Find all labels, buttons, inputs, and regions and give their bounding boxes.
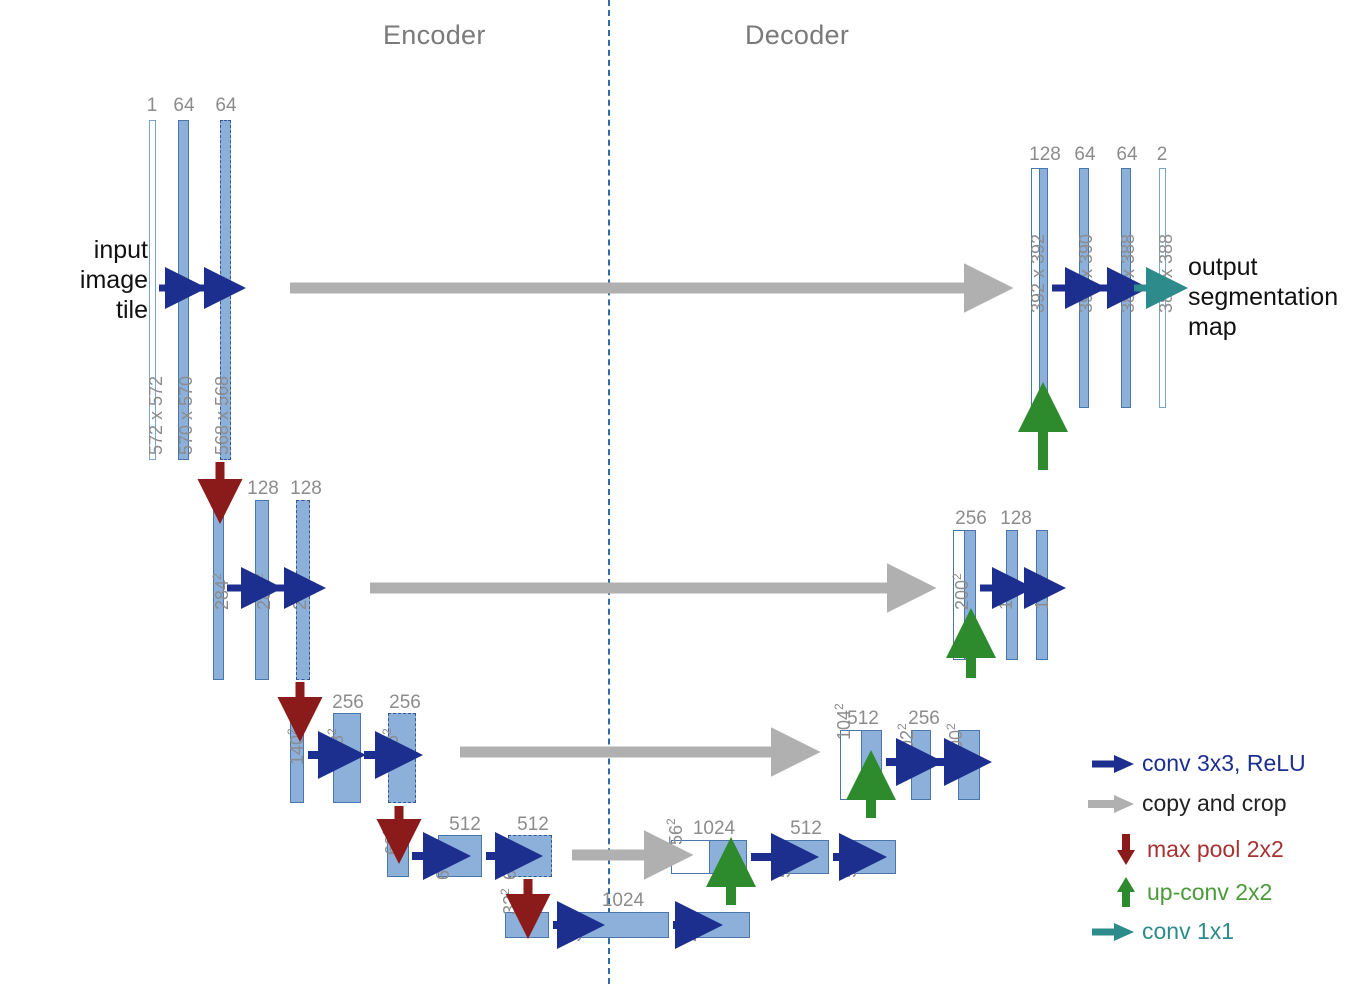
channel-label: 128 [283, 478, 329, 500]
dim-label: 1982 [994, 573, 1017, 610]
dim-label: 302 [563, 915, 586, 942]
channel-label: 512 [778, 818, 834, 840]
dim-label: 1022 [895, 723, 918, 760]
channel-label: 512 [510, 814, 556, 836]
legend-label: up-conv 2x2 [1147, 879, 1272, 906]
arrow-right-icon [1090, 751, 1136, 777]
encoder-header: Encoder [383, 20, 486, 51]
channel-label: 64 [1110, 144, 1144, 166]
legend-label: conv 1x1 [1142, 918, 1234, 945]
feature-block [505, 912, 549, 938]
legend-label: conv 3x3, ReLU [1142, 750, 1306, 777]
dim-label: 2842 [210, 573, 233, 610]
dim-label: 2002 [950, 573, 973, 610]
legend-item-conv1x1: conv 1x1 [1090, 918, 1234, 945]
dim-label: 662 [431, 853, 454, 880]
dim-label: 542 [772, 851, 795, 878]
legend-label: max pool 2x2 [1147, 836, 1284, 863]
dim-label: 1362 [380, 728, 403, 765]
channel-label: 64 [167, 95, 201, 117]
dim-label: 388 x 388 [1156, 234, 1177, 313]
dim-label: 392 x 392 [1028, 234, 1049, 313]
dim-label: 572 x 572 [146, 376, 167, 455]
dim-label: 642 [498, 853, 521, 880]
dim-label: 682 [380, 828, 403, 855]
channel-label: 1 [140, 95, 164, 117]
dim-label: 570 x 570 [176, 376, 197, 455]
dim-label: 2802 [288, 573, 311, 610]
output-label: output segmentation map [1188, 252, 1338, 342]
encoder-decoder-divider [608, 0, 610, 984]
dim-label: 1402 [285, 728, 308, 765]
input-label: input image tile [68, 235, 148, 325]
channel-label: 256 [948, 508, 994, 530]
legend-item-maxpool: max pool 2x2 [1113, 832, 1284, 866]
arrow-right-icon [1090, 919, 1136, 945]
channel-label: 128 [1022, 144, 1068, 166]
decoder-header: Decoder [745, 20, 849, 51]
dim-label: 390 x 390 [1076, 234, 1097, 313]
feature-block [709, 840, 747, 874]
dim-label: 1002 [944, 723, 967, 760]
arrow-right-icon [1086, 791, 1136, 817]
channel-label: 256 [382, 692, 428, 714]
dim-label: 1042 [832, 703, 855, 740]
unet-diagram: Encoder Decoder 1 572 x 572 64 570 x 570… [0, 0, 1368, 984]
channel-label: 64 [209, 95, 243, 117]
dim-label: 568 x 568 [212, 376, 233, 455]
channel-label: 256 [325, 692, 371, 714]
legend-item-copy-crop: copy and crop [1086, 790, 1286, 817]
dim-label: 282 [678, 915, 701, 942]
dim-label: 2822 [252, 573, 275, 610]
legend-label: copy and crop [1142, 790, 1286, 817]
dim-label: 522 [838, 851, 861, 878]
feature-block [861, 730, 882, 800]
dim-label: 1962 [1030, 573, 1053, 610]
legend-item-upconv: up-conv 2x2 [1113, 875, 1272, 909]
channel-label: 1024 [595, 890, 651, 912]
arrow-up-icon [1113, 875, 1139, 909]
dim-label: 388 x 388 [1118, 234, 1139, 313]
channel-label: 64 [1068, 144, 1102, 166]
arrow-down-icon [1113, 832, 1139, 866]
legend-item-conv3x3: conv 3x3, ReLU [1090, 750, 1306, 777]
dim-label: 1382 [325, 728, 348, 765]
channel-label: 512 [442, 814, 488, 836]
channel-label: 1024 [686, 818, 742, 840]
channel-label: 2 [1150, 144, 1174, 166]
channel-label: 128 [240, 478, 286, 500]
dim-label: 562 [664, 818, 687, 845]
dim-label: 322 [498, 888, 521, 915]
channel-label: 128 [993, 508, 1039, 530]
